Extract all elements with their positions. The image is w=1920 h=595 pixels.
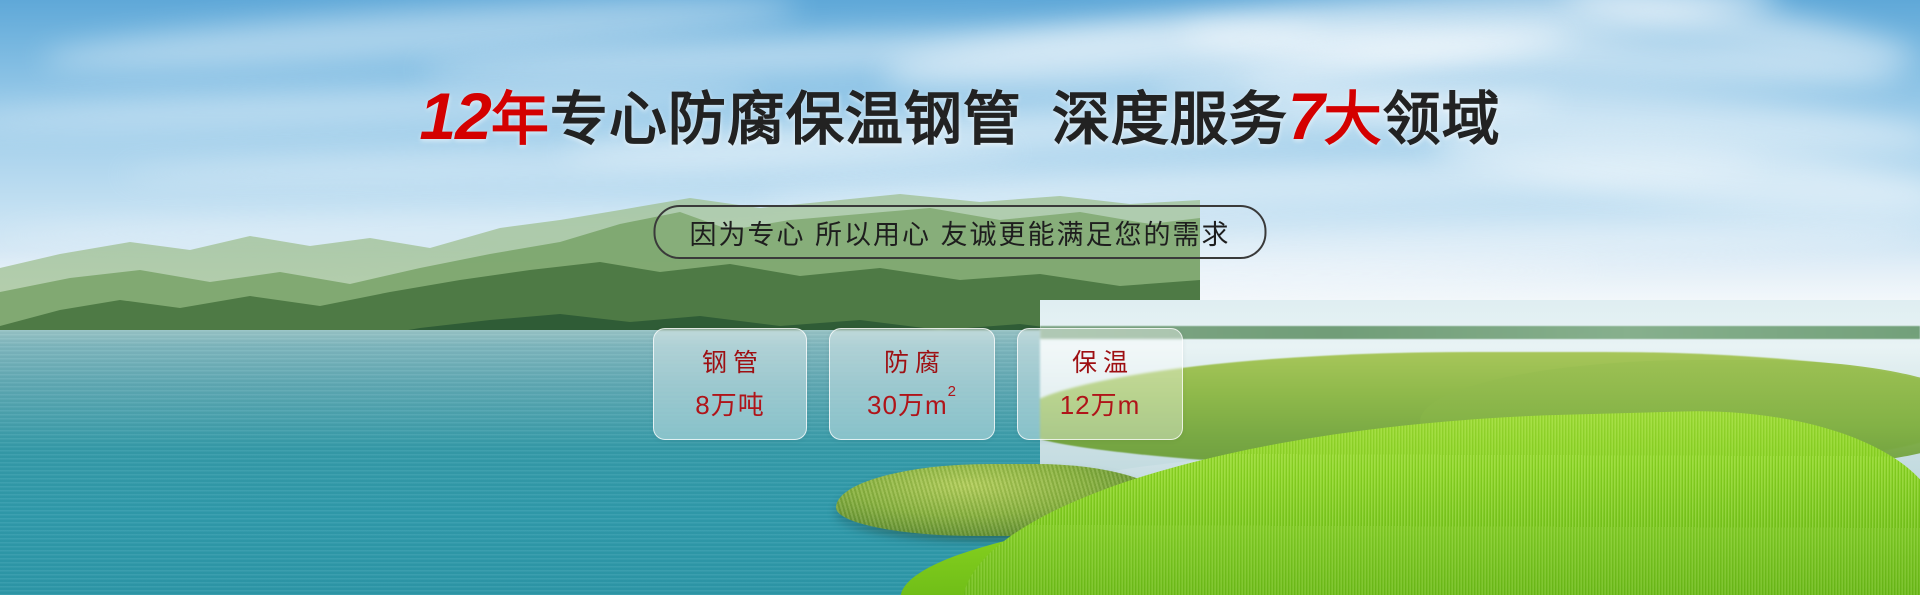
headline-fields-number: 7 (1288, 79, 1324, 153)
headline-years-number: 12 (419, 79, 490, 153)
stat-card-insulation[interactable]: 保温 12万m (1017, 328, 1183, 440)
stat-value-text: 30万m (867, 390, 948, 420)
headline-fields-tail: 领域 (1383, 87, 1501, 152)
hero-banner: 12年专心防腐保温钢管深度服务7大领域 因为专心 所以用心 友诚更能满足您的需求… (0, 0, 1920, 595)
headline: 12年专心防腐保温钢管深度服务7大领域 (0, 83, 1920, 149)
stat-cards: 钢管 8万吨 防腐 30万m2 保温 12万m (653, 328, 1183, 440)
stat-value-text: 8万吨 (695, 390, 764, 420)
headline-fields-unit: 大 (1324, 87, 1383, 152)
stat-title: 钢管 (696, 351, 764, 376)
stat-card-anticorrosion[interactable]: 防腐 30万m2 (829, 328, 995, 440)
stat-value-text: 12万m (1060, 390, 1141, 420)
stat-value: 30万m2 (867, 392, 957, 418)
stat-value: 12万m (1060, 392, 1141, 418)
stat-title: 保温 (1066, 351, 1134, 376)
headline-service-text: 深度服务 (1052, 87, 1288, 152)
headline-main-text: 专心防腐保温钢管 (550, 87, 1022, 152)
headline-years-unit: 年 (491, 87, 550, 152)
subtitle-pill: 因为专心 所以用心 友诚更能满足您的需求 (653, 205, 1266, 259)
stat-title: 防腐 (878, 351, 946, 376)
stat-card-steel-pipe[interactable]: 钢管 8万吨 (653, 328, 807, 440)
stat-value-superscript: 2 (948, 383, 957, 400)
stat-value: 8万吨 (695, 392, 764, 418)
subtitle-text: 因为专心 所以用心 友诚更能满足您的需求 (689, 213, 1230, 252)
